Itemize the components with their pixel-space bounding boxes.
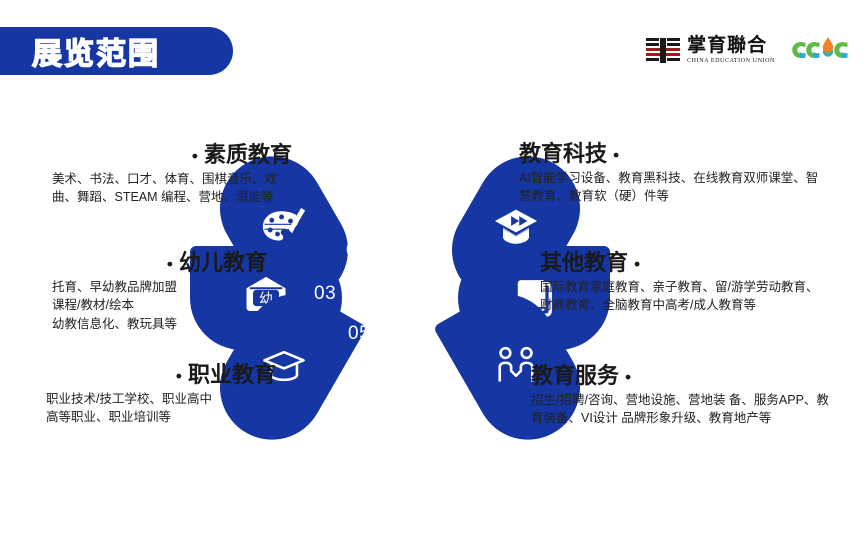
ceu-logo-en: CHINA EDUCATION UNION — [687, 58, 775, 64]
ceu-logo-cn: 掌育聯合 — [687, 36, 775, 55]
petal-number-01: 01 — [346, 240, 368, 262]
category-title: 素质教育 — [204, 142, 292, 167]
category-vocational-education: • 职业教育 职业技术/技工学校、职业高中 高等职业、职业培训等 — [46, 362, 276, 427]
page-title: 展览范围 — [32, 29, 160, 73]
category-body: 职业技术/技工学校、职业高中 高等职业、职业培训等 — [46, 390, 276, 426]
bullet-dot: • — [167, 254, 173, 273]
category-title: 职业教育 — [188, 362, 276, 387]
category-body: 美术、书法、口才、体育、围棋音乐、戏曲、舞蹈、STEAM 编程、营地、潜能等 — [52, 170, 292, 206]
category-education-services: 教育服务 • 招生/招聘/咨询、营地设施、营地装 备、服务APP、教育装备、VI… — [531, 363, 831, 428]
section-title-banner: 展览范围 — [0, 27, 233, 75]
bullet-dot: • — [613, 145, 619, 164]
petal-number-06: 06 — [404, 323, 426, 345]
petal-number-03: 03 — [314, 283, 336, 305]
category-body: 招生/招聘/咨询、营地设施、营地装 备、服务APP、教育装备、VI设计 品牌形象… — [531, 391, 831, 427]
ceu-mark-icon — [646, 37, 680, 64]
bullet-dot: • — [176, 366, 182, 385]
ccic-logo — [789, 37, 851, 63]
category-early-childhood: • 幼儿教育 托育、早幼教品牌加盟 课程/教材/绘本 幼教信息化、教玩具等 — [52, 250, 267, 333]
category-body: 托育、早幼教品牌加盟 课程/教材/绘本 幼教信息化、教玩具等 — [52, 278, 267, 332]
category-title: 教育服务 — [531, 363, 619, 388]
petal-number-05: 05 — [348, 323, 370, 345]
category-title: 幼儿教育 — [179, 250, 267, 275]
category-other-education: 其他教育 • 国际教育家庭教育、亲子教育、留/游学劳动教育、财商教育、全脑教育中… — [540, 250, 830, 315]
china-education-union-logo: 掌育聯合 CHINA EDUCATION UNION — [646, 36, 775, 64]
petal-number-04: 04 — [436, 283, 458, 305]
category-quality-education: • 素质教育 美术、书法、口才、体育、围棋音乐、戏曲、舞蹈、STEAM 编程、营… — [52, 142, 292, 207]
logo-group: 掌育聯合 CHINA EDUCATION UNION — [646, 36, 851, 64]
bullet-dot: • — [192, 146, 198, 165]
category-title: 其他教育 — [540, 250, 628, 275]
bullet-dot: • — [625, 367, 631, 386]
category-education-technology: 教育科技 • AI智能学习设备、教育黑科技、在线教育双师课堂、智慧教育、教育软（… — [519, 141, 819, 206]
bullet-dot: • — [634, 254, 640, 273]
category-body: 国际教育家庭教育、亲子教育、留/游学劳动教育、财商教育、全脑教育中高考/成人教育… — [540, 278, 830, 314]
category-body: AI智能学习设备、教育黑科技、在线教育双师课堂、智慧教育、教育软（硬）件等 — [519, 169, 819, 205]
petal-number-02: 02 — [404, 240, 426, 262]
category-title: 教育科技 — [519, 141, 607, 166]
